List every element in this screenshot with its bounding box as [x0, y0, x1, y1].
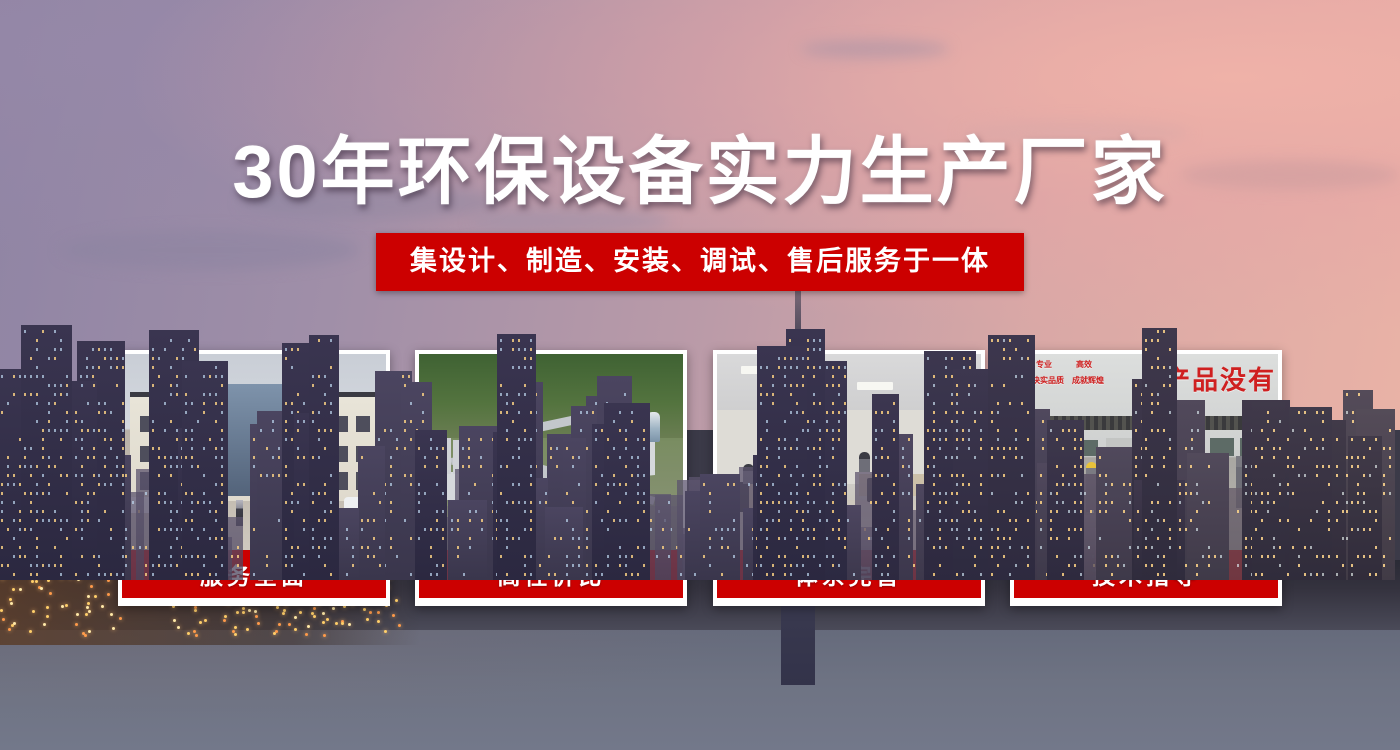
skyline-building [545, 507, 583, 580]
skyline-building [497, 334, 536, 580]
skyline-building [604, 403, 650, 580]
skyline-building [21, 325, 72, 580]
skyline-building [953, 369, 989, 580]
subtitle-container: 集设计、制造、安装、调试、售后服务于一体 [0, 233, 1400, 291]
skyline-building [1096, 447, 1138, 580]
skyline-building [0, 369, 23, 580]
skyline-building [1047, 420, 1083, 580]
skyline-building [358, 446, 386, 580]
skyline-building [1348, 436, 1382, 580]
skyline-building [1187, 453, 1229, 580]
skyline-building [700, 474, 740, 580]
factory-slogan-main: 产品没有 [1164, 360, 1276, 397]
skyline-building [1252, 402, 1285, 580]
factory-slogan-small: 专业 [1036, 360, 1052, 370]
subtitle-badge: 集设计、制造、安装、调试、售后服务于一体 [376, 233, 1024, 291]
skyline-building [182, 361, 228, 580]
skyline-building [448, 500, 487, 580]
promo-banner: 30年环保设备实力生产厂家 集设计、制造、安装、调试、售后服务于一体 中燕机械 … [0, 0, 1400, 750]
page-title: 30年环保设备实力生产厂家 [0, 130, 1400, 214]
skyline-building [988, 335, 1035, 580]
skyline-building [1142, 328, 1177, 580]
skyline-building [415, 430, 447, 580]
factory-slogan-small: 成就辉煌 [1072, 376, 1104, 386]
skyline-building [337, 508, 359, 580]
skyline-building [257, 411, 282, 580]
skyline-building [1289, 407, 1331, 580]
skyline-building [309, 335, 338, 580]
factory-slogan-small: 高效 [1076, 360, 1092, 370]
skyline-building [872, 394, 899, 580]
skyline-building [757, 346, 808, 580]
factory-slogan-small: 快实品质 [1032, 376, 1064, 386]
